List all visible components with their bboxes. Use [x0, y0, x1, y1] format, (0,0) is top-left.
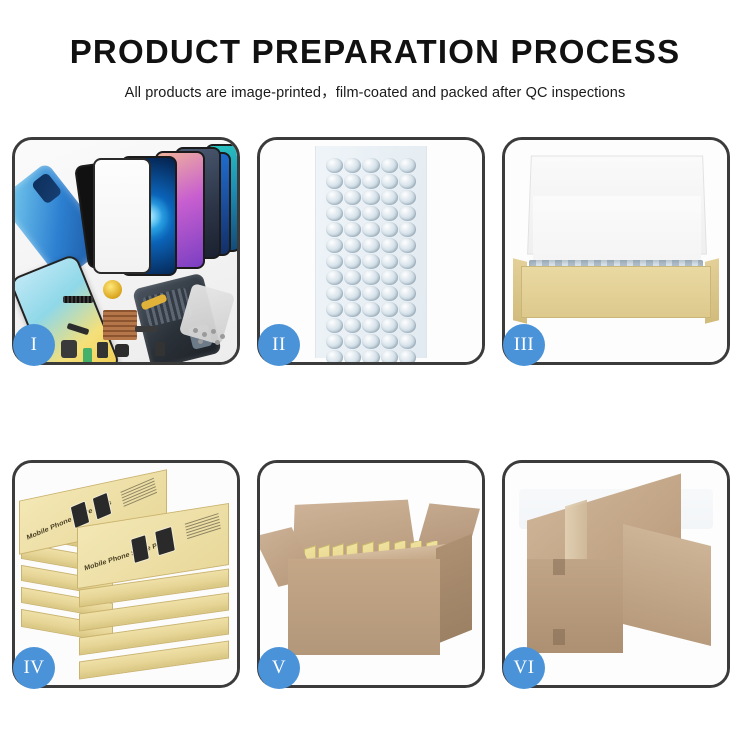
box-front-panel	[521, 266, 711, 318]
bubble	[326, 334, 343, 349]
bubble	[344, 254, 361, 269]
camera-module-part	[61, 340, 77, 358]
bubble	[326, 190, 343, 205]
steps-grid: I II III	[12, 137, 738, 697]
bubble	[326, 318, 343, 333]
bubble	[399, 270, 416, 285]
bubble	[399, 334, 416, 349]
step-panel-4: Mobile Phone Spare Parts Mobile Phone Sp…	[12, 460, 240, 688]
bubble-wrap-pouch	[315, 146, 427, 358]
bubble	[381, 334, 398, 349]
bubble	[399, 318, 416, 333]
step-badge-5: V	[258, 647, 300, 689]
step-panel-5: V	[257, 460, 485, 688]
bubble	[362, 302, 379, 317]
speaker-part	[155, 342, 165, 356]
bubble	[362, 270, 379, 285]
carton-side-panel	[623, 524, 711, 646]
bubble	[326, 174, 343, 189]
flex-cable-part	[63, 296, 93, 303]
step-panel-6: VI	[502, 460, 730, 688]
bubble	[344, 318, 361, 333]
bubble	[381, 350, 398, 362]
bubble	[344, 270, 361, 285]
bubble	[362, 238, 379, 253]
bubble	[399, 206, 416, 221]
step-badge-1: I	[13, 324, 55, 366]
bubble	[381, 254, 398, 269]
bubble	[344, 222, 361, 237]
bubble	[344, 238, 361, 253]
bubble	[399, 254, 416, 269]
battery-part	[83, 348, 92, 362]
copper-grid-part	[103, 310, 137, 340]
bubble	[344, 302, 361, 317]
bubble	[344, 174, 361, 189]
page-title: PRODUCT PREPARATION PROCESS	[0, 34, 750, 70]
bubble	[399, 190, 416, 205]
ribbon-cable-part	[135, 326, 157, 332]
carton-front-panel	[527, 559, 623, 653]
bubble	[326, 206, 343, 221]
bubble	[344, 158, 361, 173]
bubble	[326, 350, 343, 362]
speaker-coil-part	[103, 280, 122, 299]
step-badge-3: III	[503, 324, 545, 366]
bubble	[381, 222, 398, 237]
carton-front-panel	[288, 559, 440, 655]
screws-group	[193, 328, 227, 344]
carton-seam	[553, 629, 565, 645]
bubble	[326, 302, 343, 317]
step-badge-6: VI	[503, 647, 545, 689]
bubble	[326, 270, 343, 285]
bubble	[381, 174, 398, 189]
box-print-screen	[154, 526, 176, 557]
sim-tray-part	[97, 342, 108, 358]
bubble	[344, 350, 361, 362]
bubble	[362, 206, 379, 221]
bubble	[326, 158, 343, 173]
bubble	[362, 286, 379, 301]
bubble	[362, 222, 379, 237]
bubble	[381, 286, 398, 301]
bubble	[381, 190, 398, 205]
bubble	[399, 158, 416, 173]
bubble	[326, 286, 343, 301]
bubble	[362, 158, 379, 173]
phone-screen-white	[93, 158, 151, 274]
bubble	[399, 174, 416, 189]
bubble	[399, 222, 416, 237]
bubble	[344, 334, 361, 349]
bubble	[362, 334, 379, 349]
bubble	[381, 206, 398, 221]
bubble	[381, 318, 398, 333]
bubble	[326, 222, 343, 237]
button-part	[115, 344, 129, 357]
page-subtitle: All products are image-printed，film-coat…	[0, 81, 750, 102]
bubble	[381, 158, 398, 173]
bubble	[362, 190, 379, 205]
bubble	[381, 302, 398, 317]
bubble	[399, 302, 416, 317]
bubble	[362, 174, 379, 189]
step-panel-2: II	[257, 137, 485, 365]
step-panel-1: I	[12, 137, 240, 365]
step-badge-2: II	[258, 324, 300, 366]
bubble	[399, 350, 416, 362]
bubble	[399, 238, 416, 253]
bubble	[362, 350, 379, 362]
bubble-grid	[326, 158, 416, 348]
step-panel-3: III	[502, 137, 730, 365]
bubble	[344, 190, 361, 205]
header: PRODUCT PREPARATION PROCESS All products…	[0, 0, 750, 102]
carton-seam	[553, 559, 565, 575]
bubble	[344, 286, 361, 301]
bubble	[399, 286, 416, 301]
bubble	[381, 238, 398, 253]
bubble	[362, 254, 379, 269]
bubble	[326, 254, 343, 269]
bubble	[326, 238, 343, 253]
bubble	[344, 206, 361, 221]
carton-side-panel	[436, 534, 472, 645]
step-badge-4: IV	[13, 647, 55, 689]
product-preparation-infographic: PRODUCT PREPARATION PROCESS All products…	[0, 0, 750, 750]
bubble	[381, 270, 398, 285]
bubble	[362, 318, 379, 333]
